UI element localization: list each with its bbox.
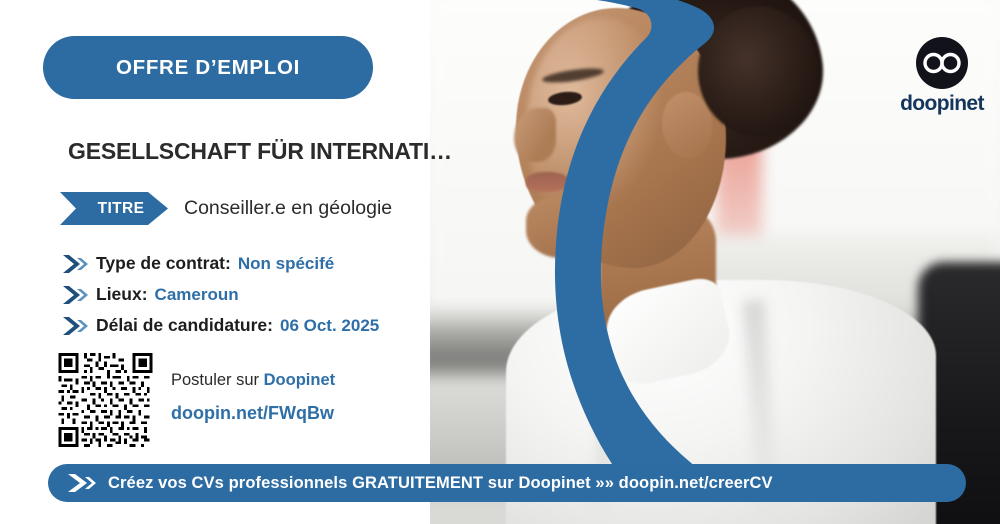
offer-badge-label: OFFRE D’EMPLOI	[116, 56, 300, 80]
detail-label: Lieux:	[96, 284, 148, 305]
doopinet-infinity-icon	[915, 36, 969, 90]
detail-label: Délai de candidature:	[96, 315, 273, 336]
apply-block[interactable]: Postuler sur Doopinet doopin.net/FWqBw	[56, 353, 335, 447]
apply-brand: Doopinet	[264, 371, 336, 389]
detail-value: Non spécifé	[238, 254, 334, 274]
apply-prefix: Postuler sur	[171, 371, 264, 389]
double-chevron-icon	[62, 285, 90, 305]
double-chevron-icon	[66, 473, 96, 493]
apply-line: Postuler sur Doopinet	[171, 371, 335, 390]
job-details-list: Type de contrat: Non spécifé Lieux: Came…	[62, 248, 462, 341]
apply-text: Postuler sur Doopinet doopin.net/FWqBw	[171, 353, 335, 424]
cv-promo-text: Créez vos CVs professionnels GRATUITEMEN…	[108, 474, 773, 493]
doopinet-logo: doopinet	[894, 36, 990, 120]
detail-row-location: Lieux: Cameroun	[62, 279, 462, 310]
doopinet-wordmark: doopinet	[894, 92, 990, 116]
cv-promo-banner[interactable]: Créez vos CVs professionnels GRATUITEMEN…	[48, 464, 966, 502]
blue-arc-divider	[398, 0, 728, 494]
company-name: GESELLSCHAFT FÜR INTERNATI…	[68, 138, 452, 165]
job-title-row: TITRE Conseiller.e en géologie	[60, 192, 392, 225]
titre-ribbon: TITRE	[60, 192, 168, 225]
titre-ribbon-label: TITRE	[84, 200, 145, 218]
job-offer-poster: OFFRE D’EMPLOI GESELLSCHAFT FÜR INTERNAT…	[0, 0, 1000, 524]
detail-value: 06 Oct. 2025	[280, 316, 379, 336]
double-chevron-icon	[62, 254, 90, 274]
job-title-value: Conseiller.e en géologie	[184, 197, 392, 220]
double-chevron-icon	[62, 316, 90, 336]
qr-code-icon[interactable]	[56, 353, 155, 447]
apply-short-url[interactable]: doopin.net/FWqBw	[171, 403, 335, 424]
offer-badge: OFFRE D’EMPLOI	[43, 36, 373, 99]
detail-value: Cameroun	[155, 285, 239, 305]
detail-row-deadline: Délai de candidature: 06 Oct. 2025	[62, 310, 462, 341]
detail-label: Type de contrat:	[96, 253, 231, 274]
detail-row-contract-type: Type de contrat: Non spécifé	[62, 248, 462, 279]
